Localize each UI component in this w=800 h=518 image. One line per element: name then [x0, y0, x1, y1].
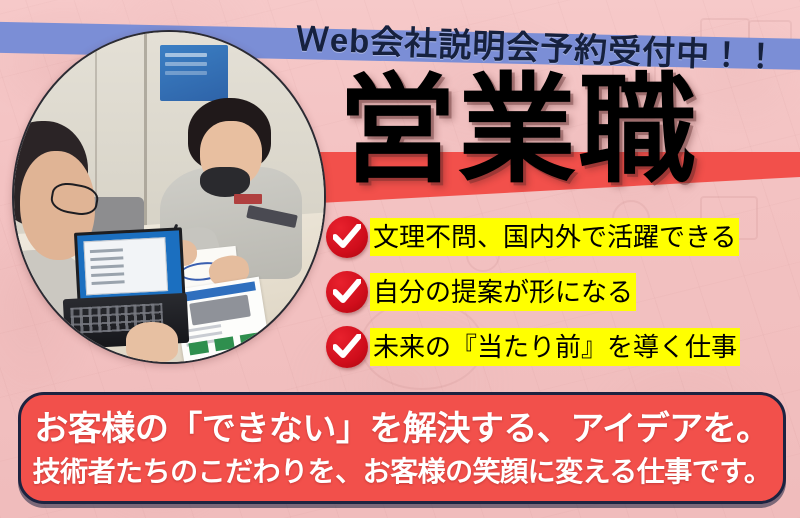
meeting-photo [12, 30, 326, 364]
photo-staff-collar [200, 167, 250, 197]
list-item: 未来の『当たり前』を導く仕事 [326, 322, 796, 377]
message-box: お客様の「できない」を解決する、アイデアを。 技術者たちのこだわりを、お客様の笑… [18, 392, 786, 504]
message-secondary: 技術者たちのこだわりを、お客様の笑顔に変える仕事です。 [21, 450, 783, 490]
recruitment-banner: Ｗeb会社説明会予約受付中！！ 営業職 [0, 0, 800, 518]
list-item-label: 未来の『当たり前』を導く仕事 [370, 328, 740, 366]
photo-wall-poster [160, 45, 228, 101]
photo-customer-hand [126, 322, 179, 362]
list-item-label: 自分の提案が形になる [370, 273, 636, 311]
benefit-list: 文理不問、国内外で活躍できる 自分の提案が形になる 未来の『当たり前』を導く仕事 [326, 212, 796, 377]
check-icon [326, 216, 368, 258]
message-primary: お客様の「できない」を解決する、アイデアを。 [21, 401, 783, 450]
list-item: 文理不問、国内外で活躍できる [326, 212, 796, 267]
check-icon [326, 271, 368, 313]
photo-wall-seam [144, 32, 147, 243]
photo-staff-uniform-logo [234, 194, 262, 204]
page-title: 営業職 [338, 72, 698, 190]
list-item-label: 文理不問、国内外で活躍できる [370, 218, 739, 256]
list-item: 自分の提案が形になる [326, 267, 796, 322]
check-icon [326, 326, 368, 368]
